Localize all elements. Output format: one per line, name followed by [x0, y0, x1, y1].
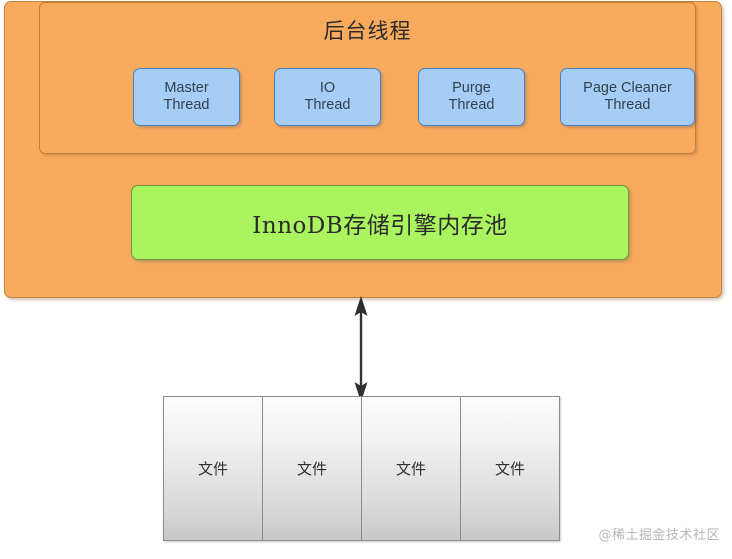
thread-label-purge: Purge Thread	[449, 80, 495, 114]
files-row: 文件 文件 文件 文件	[163, 396, 560, 541]
file-label: 文件	[297, 458, 327, 479]
background-thread-title: 后台线程	[40, 17, 695, 45]
thread-box-purge: Purge Thread	[418, 68, 525, 126]
file-label: 文件	[198, 458, 228, 479]
memory-pool-box: InnoDB存储引擎内存池	[131, 185, 629, 260]
watermark: @稀土掘金技术社区	[598, 524, 720, 543]
thread-label-io: IO Thread	[305, 80, 351, 114]
thread-label-page-cleaner: Page Cleaner Thread	[583, 80, 672, 114]
thread-label-master: Master Thread	[164, 80, 210, 114]
thread-box-page-cleaner: Page Cleaner Thread	[560, 68, 695, 126]
file-cell: 文件	[362, 397, 461, 540]
file-cell: 文件	[263, 397, 362, 540]
file-cell: 文件	[461, 397, 559, 540]
thread-box-io: IO Thread	[274, 68, 381, 126]
file-cell: 文件	[164, 397, 263, 540]
double-headed-arrow-icon	[343, 296, 379, 402]
file-label: 文件	[495, 458, 525, 479]
background-thread-panel: 后台线程 Master Thread IO Thread Purge Threa…	[39, 2, 696, 154]
memory-pool-label: InnoDB存储引擎内存池	[252, 206, 507, 240]
innodb-engine-panel: 后台线程 Master Thread IO Thread Purge Threa…	[4, 1, 722, 298]
thread-box-master: Master Thread	[133, 68, 240, 126]
file-label: 文件	[396, 458, 426, 479]
